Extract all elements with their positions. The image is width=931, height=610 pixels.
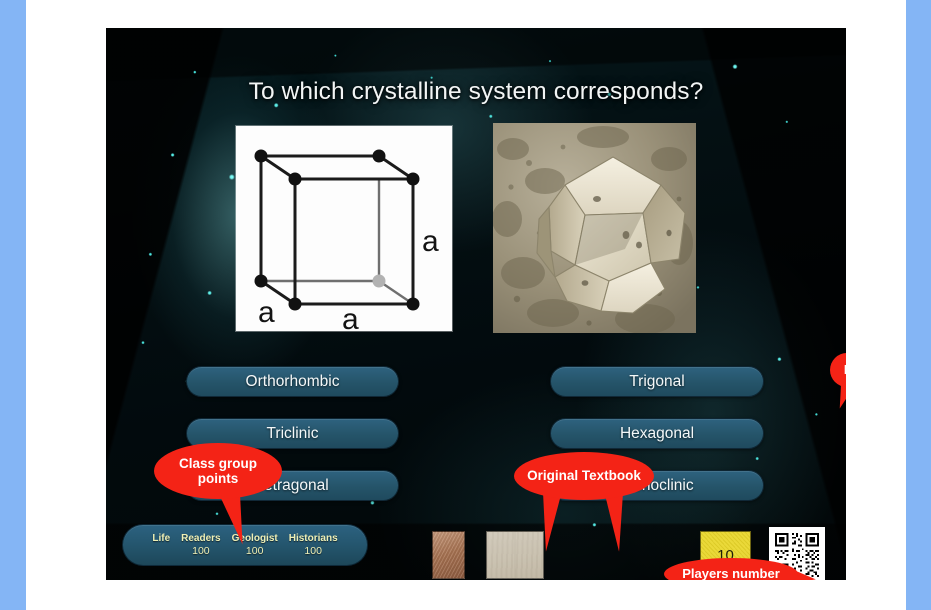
team-name: Historians — [289, 532, 338, 545]
quiz-slide: To which crystalline system corresponds? — [106, 28, 846, 580]
page-margin-right — [906, 0, 931, 610]
team-life: Life — [152, 532, 170, 545]
page: To which crystalline system corresponds? — [0, 0, 931, 610]
team-score: 100 — [181, 545, 220, 558]
team-score: 100 — [289, 545, 338, 558]
textbook-page-thumbnail[interactable] — [486, 531, 544, 579]
callout-class-group-points: Class group points — [154, 443, 282, 499]
callout-original-textbook: Original Textbook — [514, 452, 654, 500]
answer-button-hexagonal[interactable]: Hexagonal — [550, 418, 764, 449]
answer-button-trigonal[interactable]: Trigonal — [550, 366, 764, 397]
team-historians: Historians 100 — [289, 532, 338, 558]
page-margin-left — [0, 0, 26, 610]
textbook-cover-thumbnail[interactable] — [432, 531, 465, 579]
team-name: Readers — [181, 532, 220, 545]
team-name: Life — [152, 532, 170, 545]
answer-button-orthorhombic[interactable]: Orthorhombic — [186, 366, 399, 397]
team-score: 100 — [232, 545, 278, 558]
team-readers: Readers 100 — [181, 532, 220, 558]
